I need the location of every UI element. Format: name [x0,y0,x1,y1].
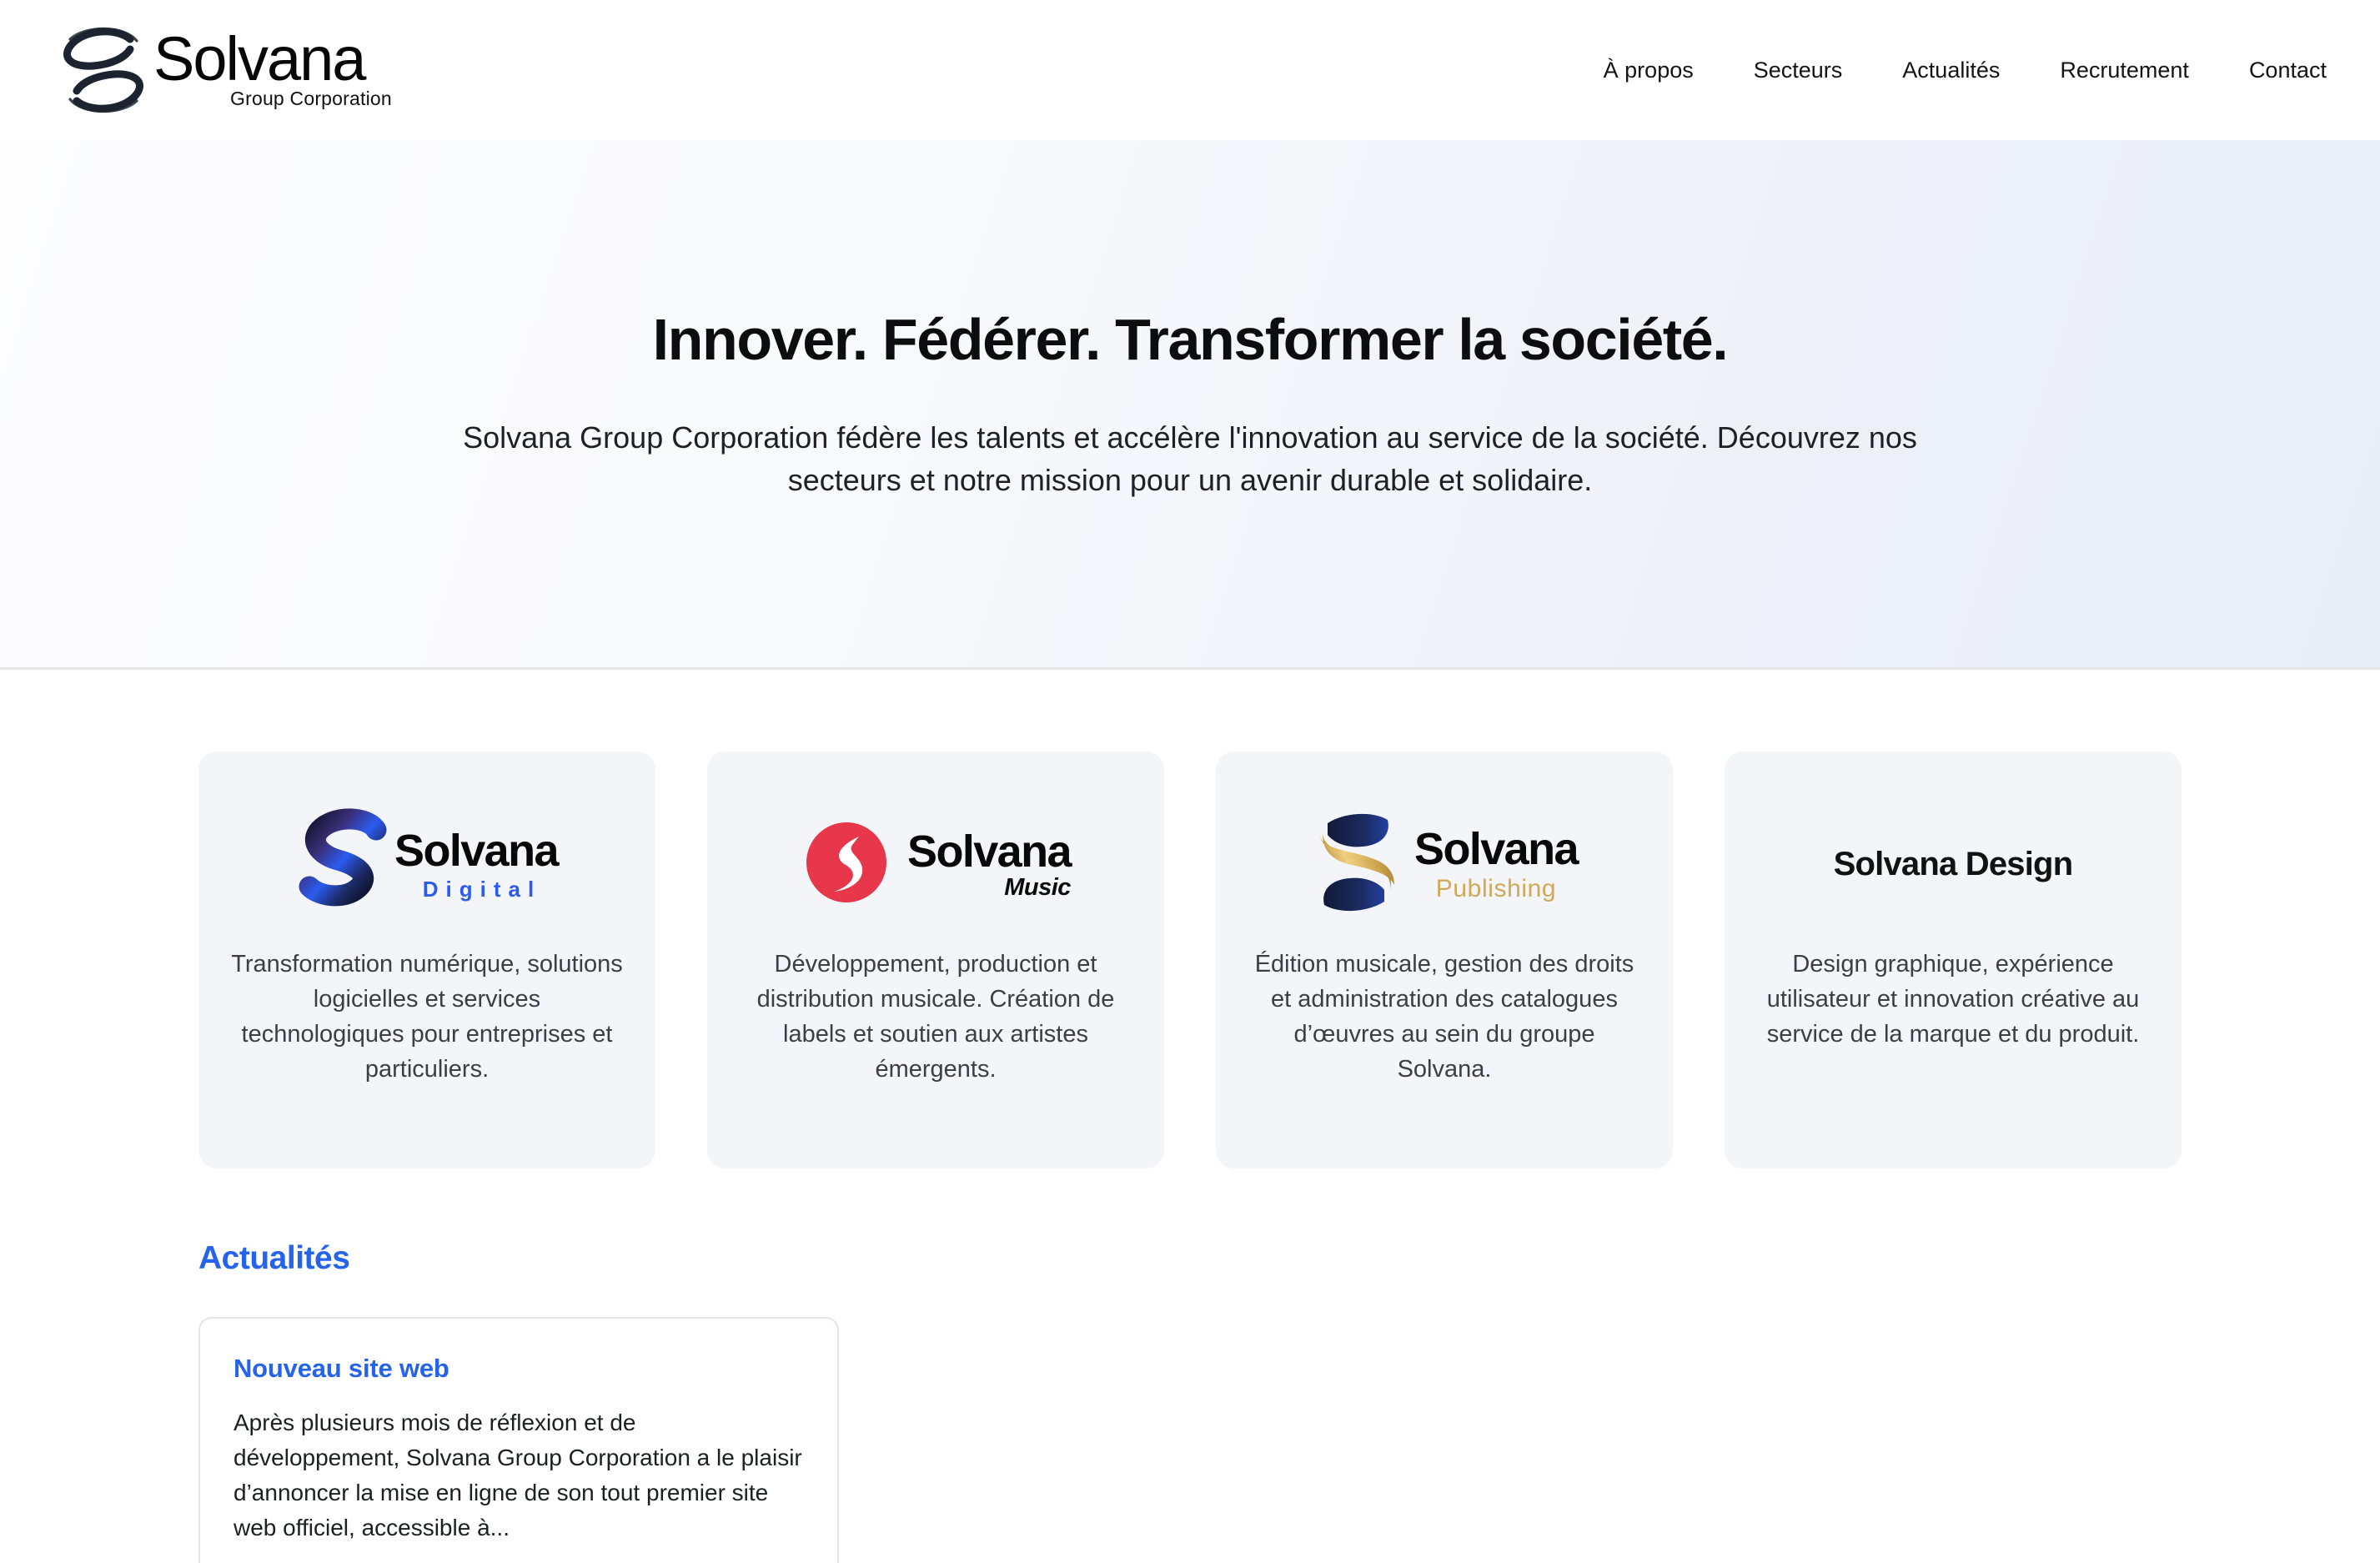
hero-subtitle: Solvana Group Corporation fédère les tal… [444,416,1936,501]
sector-card-design[interactable]: Solvana Design Design graphique, expérie… [1725,751,2182,1168]
sector-card-music[interactable]: Solvana Music Développement, production … [707,751,1164,1168]
solvana-swirl-logo-icon [53,24,153,116]
publishing-wordmark: Solvana Publishing [1414,827,1578,902]
news-heading: Actualités [198,1240,2182,1277]
sector-description: Design graphique, expérience utilisateur… [1757,947,2149,1052]
nav-link-a-propos[interactable]: À propos [1574,49,1724,92]
nav-link-actualites[interactable]: Actualités [1872,49,2030,92]
digital-wordmark: Solvana Digital [394,828,558,900]
sector-card-publishing[interactable]: Solvana Publishing Édition musicale, ges… [1216,751,1673,1168]
hero-section: Innover. Fédérer. Transformer la société… [0,140,2380,670]
publishing-logo-sub: Publishing [1414,877,1578,902]
publishing-ribbon-s-mark-icon [1311,808,1414,921]
brand-subtitle: Group Corporation [230,88,392,110]
digital-s-mark-icon [296,808,394,921]
design-title: Solvana Design [1834,802,2073,927]
solvana-digital-logo: Solvana Digital [296,802,558,927]
news-section: Actualités Nouveau site web Après plusie… [0,1168,2380,1563]
solvana-music-logo: Solvana Music [801,802,1071,927]
publishing-logo-main: Solvana [1414,827,1578,872]
news-item-excerpt: Après plusieurs mois de réflexion et de … [233,1405,804,1545]
site-header: Solvana Group Corporation À propos Secte… [0,0,2380,140]
nav-link-recrutement[interactable]: Recrutement [2030,49,2219,92]
sector-description: Développement, production et distributio… [740,947,1132,1087]
digital-logo-main: Solvana [394,828,558,873]
brand-name: Solvana [153,30,364,88]
sector-description: Édition musicale, gestion des droits et … [1248,947,1640,1087]
music-wordmark: Solvana Music [907,829,1071,900]
sectors-grid: Solvana Digital Transformation numérique… [0,670,2380,1168]
page-title: Innover. Fédérer. Transformer la société… [653,306,1728,373]
solvana-publishing-logo: Solvana Publishing [1311,802,1578,927]
music-circle-s-mark-icon [801,817,907,912]
nav-link-contact[interactable]: Contact [2219,49,2327,92]
nav-link-secteurs[interactable]: Secteurs [1724,49,1873,92]
music-logo-main: Solvana [907,829,1071,874]
main-navigation: À propos Secteurs Actualités Recrutement… [1574,49,2327,92]
news-item-title[interactable]: Nouveau site web [233,1354,804,1384]
news-card[interactable]: Nouveau site web Après plusieurs mois de… [198,1317,839,1563]
sector-description: Transformation numérique, solutions logi… [231,947,623,1087]
sector-card-digital[interactable]: Solvana Digital Transformation numérique… [198,751,655,1168]
brand-logo[interactable]: Solvana Group Corporation [53,24,392,116]
digital-logo-sub: Digital [406,878,558,900]
music-logo-sub: Music [907,876,1071,900]
